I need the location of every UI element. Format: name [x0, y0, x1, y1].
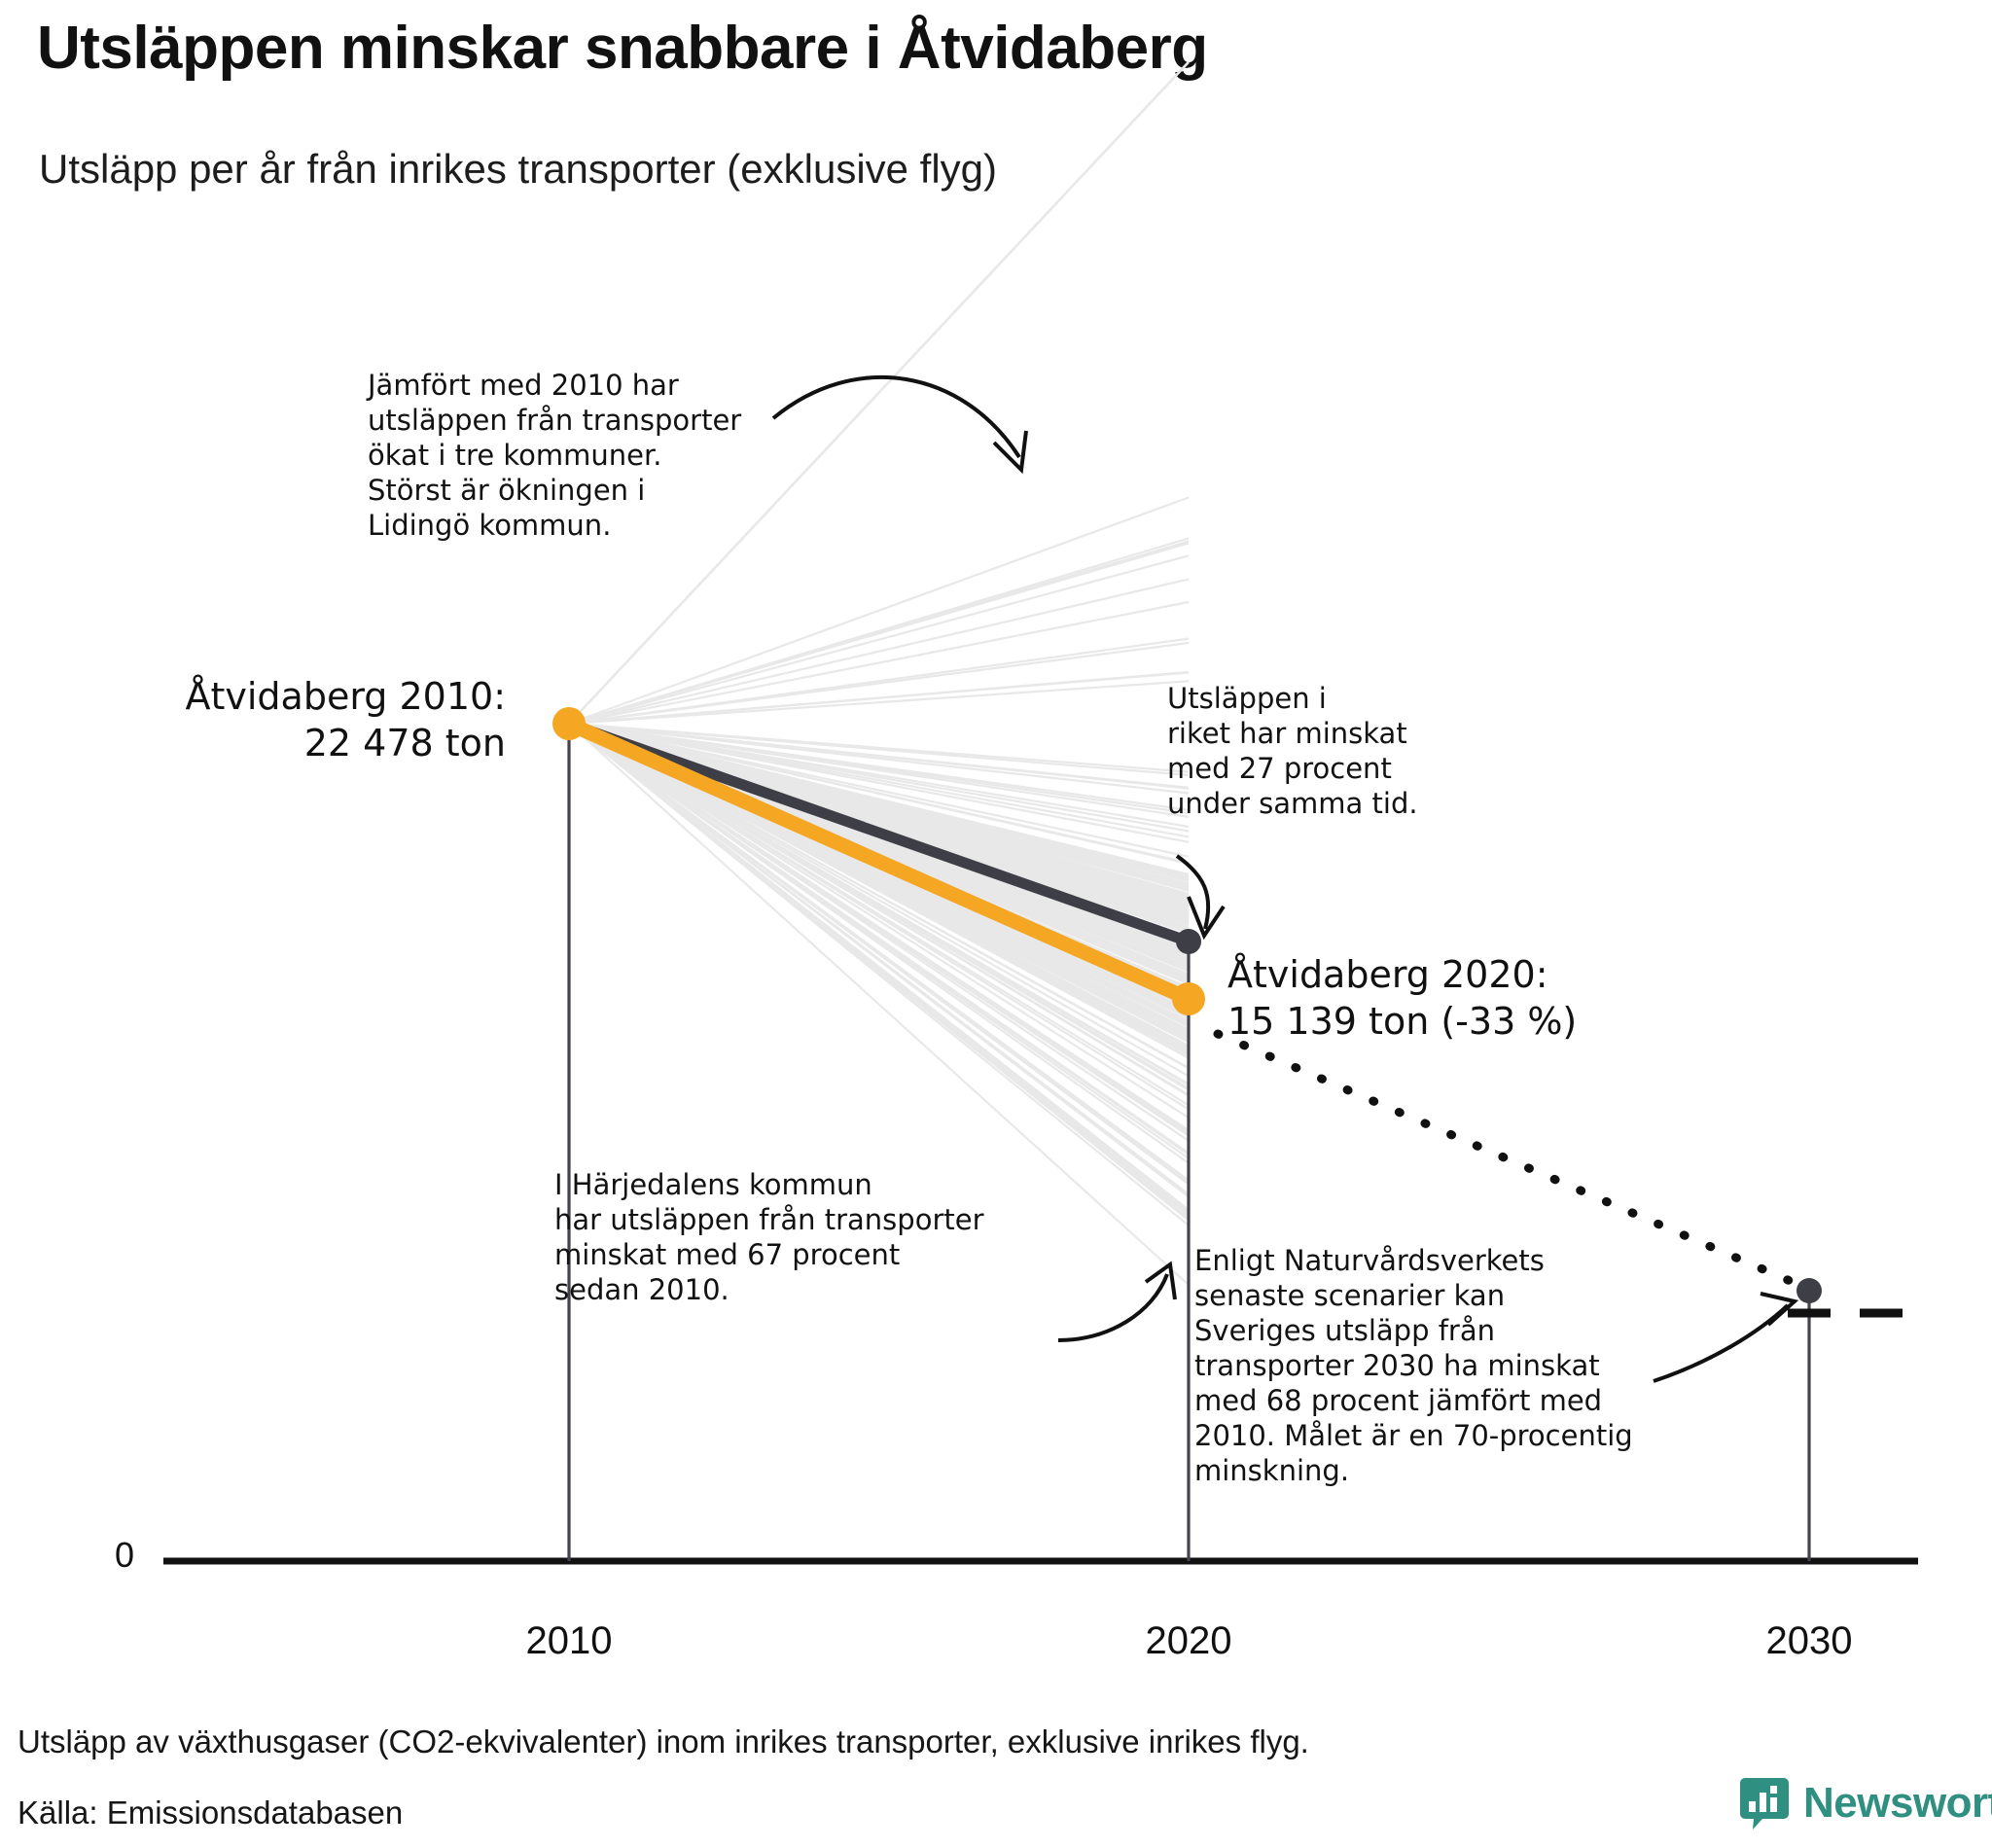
- chart-canvas: [0, 0, 1992, 1848]
- arrow-harjedalen-note: [1058, 1274, 1167, 1340]
- point-label-2020: Åtvidaberg 2020: 15 139 ton (-33 %): [1227, 951, 1577, 1045]
- arrow-increase-note: [773, 377, 1019, 457]
- data-point-2020-national: [1176, 929, 1201, 954]
- annotation-harjedalen-note: I Härjedalens kommun har utsläppen från …: [554, 1167, 984, 1307]
- arrow-scenario-note: [1654, 1305, 1788, 1381]
- data-point-2020-atvidaberg: [1172, 982, 1205, 1015]
- x-tick-2030: 2030: [1712, 1619, 1906, 1663]
- newsworthy-wordmark: Newsworthy: [1803, 1779, 1992, 1828]
- annotation-scenario-note: Enligt Naturvårdsverkets senaste scenari…: [1194, 1243, 1633, 1488]
- annotation-increase-note: Jämfört med 2010 har utsläppen från tran…: [368, 368, 741, 543]
- newsworthy-bubble-icon: [1739, 1776, 1790, 1830]
- point-label-2010: Åtvidaberg 2010: 22 478 ton: [58, 673, 506, 766]
- data-point-2010-atvidaberg: [552, 707, 586, 740]
- footnote-source: Källa: Emissionsdatabasen: [18, 1795, 403, 1831]
- x-tick-2020: 2020: [1091, 1619, 1286, 1663]
- data-point-2030-scenario: [1796, 1278, 1822, 1303]
- newsworthy-logo: Newsworthy: [1739, 1776, 1992, 1830]
- y-axis-zero-label: 0: [115, 1535, 134, 1576]
- x-tick-2010: 2010: [472, 1619, 666, 1663]
- footnote-description: Utsläpp av växthusgaser (CO2-ekvivalente…: [18, 1724, 1309, 1760]
- arrow-harjedalen-head: [1146, 1264, 1175, 1299]
- chart-page: Utsläppen minskar snabbare i Åtvidaberg …: [0, 0, 1992, 1848]
- annotation-national-note: Utsläppen i riket har minskat med 27 pro…: [1167, 681, 1418, 821]
- arrow-increase-head: [994, 431, 1026, 470]
- background-municipality-lines: [569, 62, 1189, 1285]
